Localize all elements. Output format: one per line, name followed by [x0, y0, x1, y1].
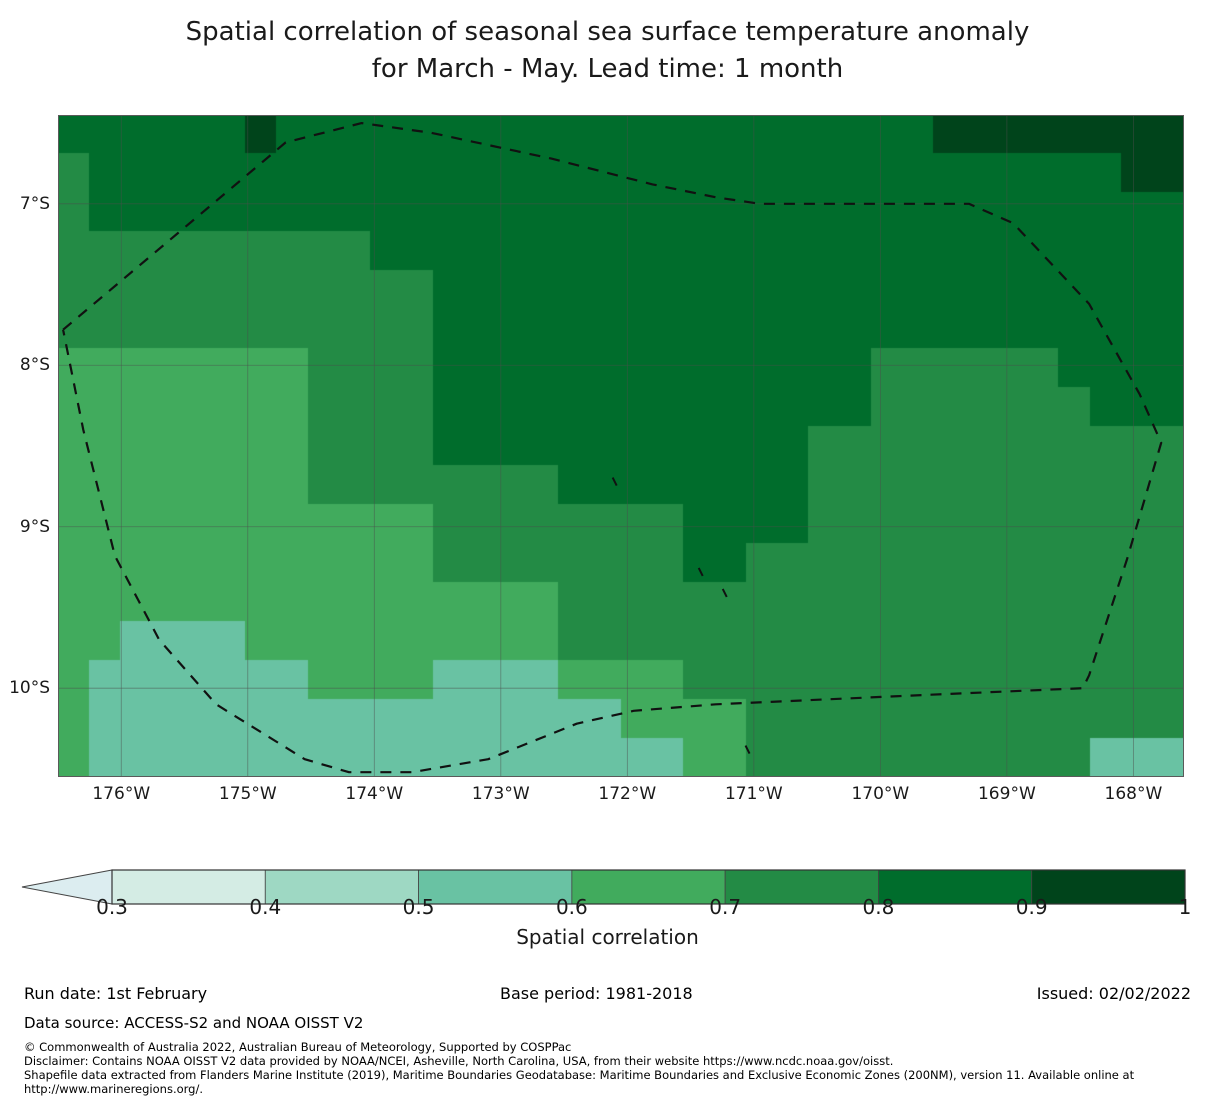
y-tick-label: 9°S — [50, 517, 80, 537]
shapefile-url: http://www.marineregions.org/. — [24, 1082, 1204, 1096]
x-tick-label: 169°W — [978, 784, 1036, 804]
page-title: Spatial correlation of seasonal sea surf… — [0, 14, 1215, 88]
disclaimer-line: Disclaimer: Contains NOAA OISST V2 data … — [24, 1054, 1204, 1068]
x-tick-label: 174°W — [345, 784, 403, 804]
correlation-heatmap-raster — [58, 115, 1184, 777]
y-tick-label: 7°S — [50, 194, 80, 214]
x-tick-label: 172°W — [598, 784, 656, 804]
colorbar-tick-label: 0.5 — [403, 895, 435, 919]
x-tick-label: 171°W — [725, 784, 783, 804]
footer: Data source: ACCESS-S2 and NOAA OISST V2… — [24, 1013, 1204, 1096]
run-date: Run date: 1st February — [24, 984, 207, 1003]
colorbar-title: Spatial correlation — [0, 925, 1215, 949]
colorbar-tick-label: 0.4 — [249, 895, 281, 919]
data-source: Data source: ACCESS-S2 and NOAA OISST V2 — [24, 1013, 1204, 1033]
colorbar-tick-label: 0.6 — [556, 895, 588, 919]
y-tick-label: 8°S — [50, 355, 80, 375]
colorbar-tick-label: 0.8 — [863, 895, 895, 919]
map-plot-area[interactable] — [58, 115, 1184, 777]
x-tick-label: 173°W — [472, 784, 530, 804]
x-tick-label: 168°W — [1105, 784, 1163, 804]
colorbar-tick-label: 0.9 — [1016, 895, 1048, 919]
meta-row: Run date: 1st February Base period: 1981… — [0, 984, 1215, 1006]
x-tick-label: 175°W — [219, 784, 277, 804]
issued-date: Issued: 02/02/2022 — [1037, 984, 1191, 1003]
x-tick-label: 170°W — [851, 784, 909, 804]
copyright-line: © Commonwealth of Australia 2022, Austra… — [24, 1040, 1204, 1054]
colorbar-tick-label: 1 — [1179, 895, 1192, 919]
shapefile-line: Shapefile data extracted from Flanders M… — [24, 1068, 1204, 1082]
base-period: Base period: 1981-2018 — [500, 984, 693, 1003]
x-tick-label: 176°W — [92, 784, 150, 804]
colorbar-tick-label: 0.3 — [96, 895, 128, 919]
colorbar-tick-label: 0.7 — [709, 895, 741, 919]
y-tick-label: 10°S — [50, 678, 91, 698]
